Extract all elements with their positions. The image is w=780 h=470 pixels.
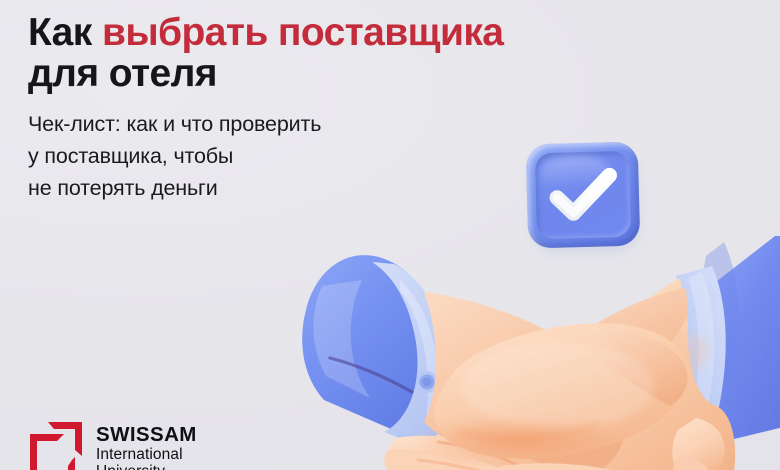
check-mark-icon [540,156,626,234]
subtitle: Чек-лист: как и что проверить у поставщи… [28,108,548,204]
handshake-3d-illustration [288,236,780,470]
poster-canvas: Как выбрать поставщика для отеля Чек-лис… [0,0,780,470]
headline-line-1-plain: Как [28,11,102,54]
subtitle-line-2: у поставщика, чтобы [28,140,548,172]
headline-line-1: Как выбрать поставщика [28,12,728,53]
subtitle-line-3: не потерять деньги [28,172,548,204]
headline-line-1-accent: выбрать поставщика [102,11,503,54]
subtitle-line-1: Чек-лист: как и что проверить [28,108,548,140]
swissam-logo[interactable]: SWISSAM International University [28,418,258,470]
logo-name: SWISSAM [96,424,197,446]
logo-subtitle-line-2: University [96,463,197,470]
page-title: Как выбрать поставщика для отеля [28,12,728,94]
swissam-bracket-frame-icon [28,420,84,470]
logo-subtitle-line-1: International [96,446,197,463]
checkbox-checked-3d-icon [526,142,643,251]
logo-wordmark: SWISSAM International University [96,418,197,470]
headline-line-2: для отеля [28,53,728,94]
